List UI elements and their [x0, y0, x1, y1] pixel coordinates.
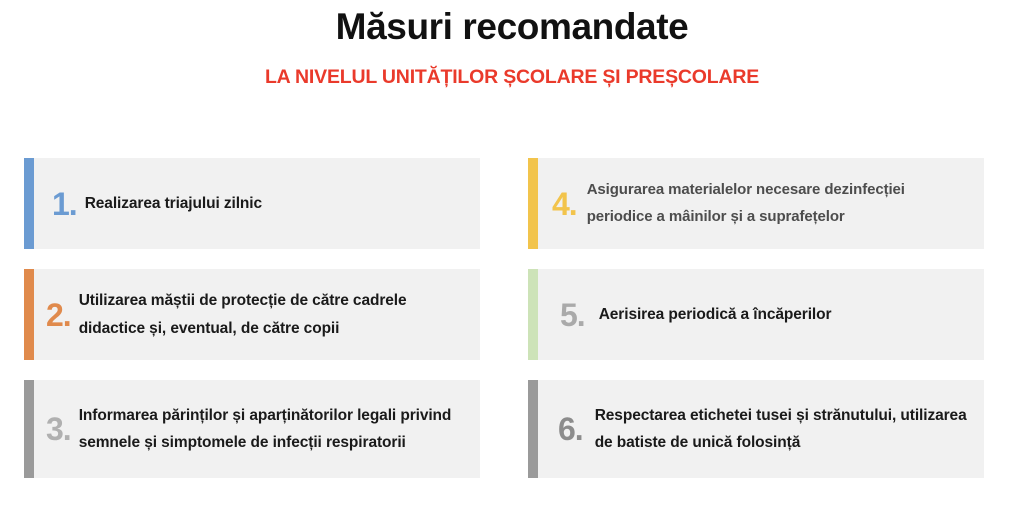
- accent-bar-5: [528, 269, 538, 360]
- accent-bar-6: [528, 380, 538, 478]
- measure-number-1: 1.: [34, 188, 85, 220]
- measure-card-3: 3. Informarea părinților și aparținători…: [24, 380, 480, 478]
- page-subtitle: LA NIVELUL UNITĂȚILOR ȘCOLARE ȘI PREȘCOL…: [0, 66, 1024, 89]
- recommendations-grid: 1. Realizarea triajului zilnic 4. Asigur…: [24, 158, 1000, 478]
- measure-number-2: 2.: [34, 299, 79, 331]
- measure-text-6: Respectarea etichetei tusei și strănutul…: [595, 402, 984, 456]
- measure-number-5: 5.: [538, 299, 599, 331]
- measure-card-5: 5. Aerisirea periodică a încăperilor: [528, 269, 984, 360]
- accent-bar-2: [24, 269, 34, 360]
- measure-card-1: 1. Realizarea triajului zilnic: [24, 158, 480, 249]
- accent-bar-4: [528, 158, 538, 249]
- measure-text-5: Aerisirea periodică a încăperilor: [599, 301, 984, 328]
- measure-text-2: Utilizarea măștii de protecție de către …: [79, 287, 480, 341]
- accent-bar-1: [24, 158, 34, 249]
- page-title: Măsuri recomandate: [0, 4, 1024, 50]
- header: Măsuri recomandate LA NIVELUL UNITĂȚILOR…: [0, 0, 1024, 90]
- measure-card-6: 6. Respectarea etichetei tusei și strănu…: [528, 380, 984, 478]
- measure-card-4: 4. Asigurarea materialelor necesare dezi…: [528, 158, 984, 249]
- measure-number-4: 4.: [538, 188, 587, 220]
- accent-bar-3: [24, 380, 34, 478]
- measure-card-2: 2. Utilizarea măștii de protecție de căt…: [24, 269, 480, 360]
- measure-number-3: 3.: [34, 413, 79, 445]
- measure-number-6: 6.: [538, 413, 595, 445]
- measure-text-4: Asigurarea materialelor necesare dezinfe…: [587, 177, 984, 230]
- measure-text-3: Informarea părinților și aparținătorilor…: [79, 402, 480, 456]
- measure-text-1: Realizarea triajului zilnic: [85, 190, 480, 217]
